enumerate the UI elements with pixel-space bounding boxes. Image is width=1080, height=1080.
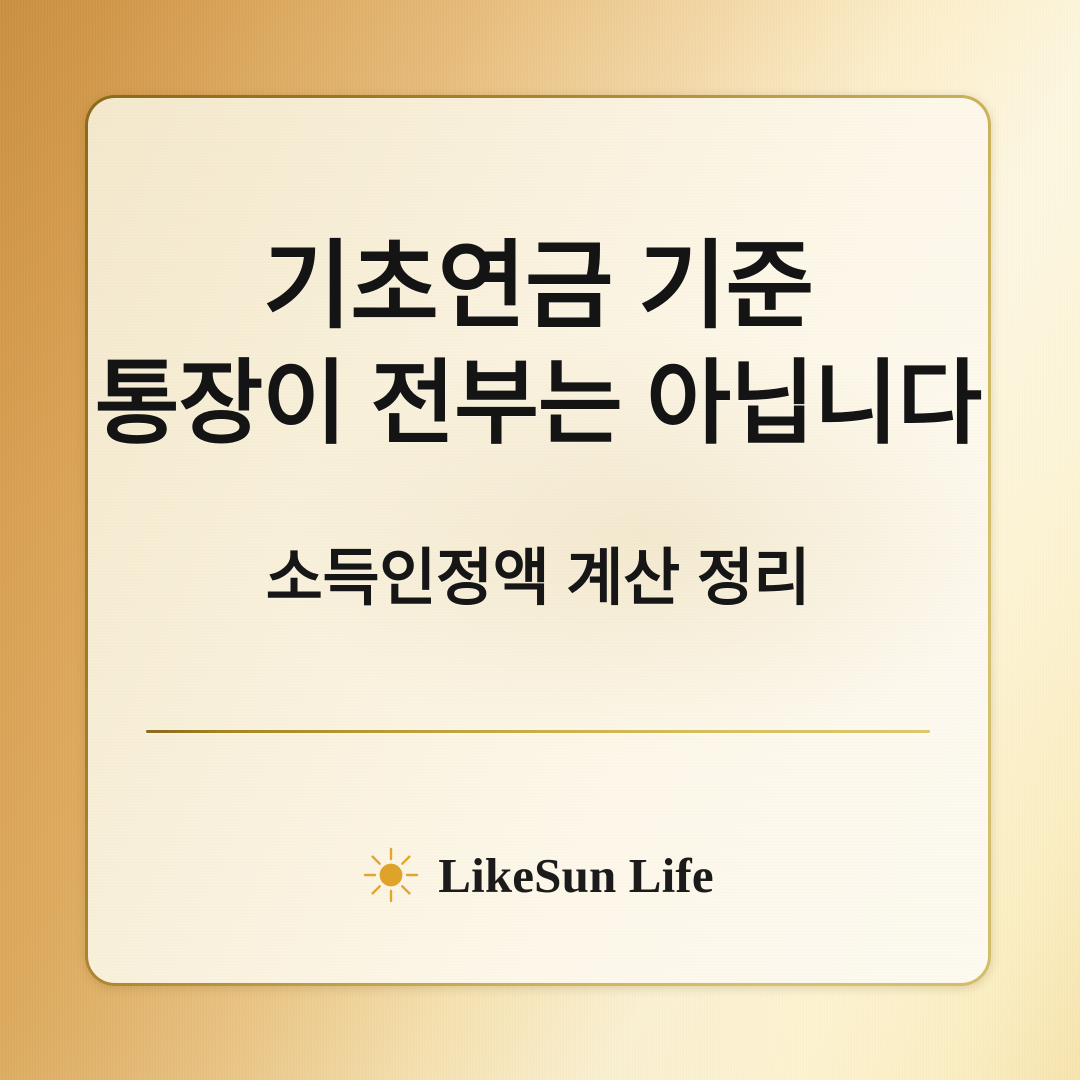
sun-icon [362, 846, 420, 904]
headline-line-1: 기초연금 기준 [88, 238, 988, 336]
card-inner-surface: 기초연금 기준 통장이 전부는 아닙니다 소득인정액 계산 정리 [88, 98, 988, 983]
card-content: 기초연금 기준 통장이 전부는 아닙니다 소득인정액 계산 정리 [88, 98, 988, 983]
brand-lockup: LikeSun Life [88, 846, 988, 904]
subheadline: 소득인정액 계산 정리 [88, 546, 988, 611]
divider [146, 730, 930, 733]
headline-block: 기초연금 기준 통장이 전부는 아닙니다 [88, 238, 988, 452]
headline-line-2: 통장이 전부는 아닙니다 [88, 358, 988, 452]
brand-name: LikeSun Life [438, 851, 713, 900]
content-card: 기초연금 기준 통장이 전부는 아닙니다 소득인정액 계산 정리 [85, 95, 991, 986]
